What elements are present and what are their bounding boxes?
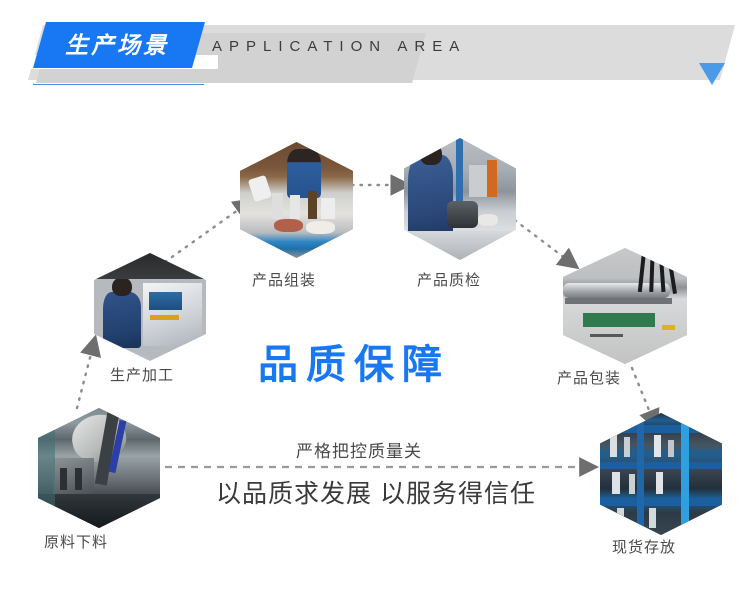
step-label-packaging: 产品包装 <box>557 367 621 388</box>
center-headline: 品质保障 <box>258 345 450 385</box>
step-hexagon-raw-material[interactable] <box>38 408 160 528</box>
step-label-inspection: 产品质检 <box>417 269 481 290</box>
connector-inspection-to-packaging <box>508 215 570 262</box>
step-hexagon-assembly[interactable] <box>240 142 353 258</box>
section-header: 生产场景 APPLICATION AREA <box>0 0 750 100</box>
assembly-photo <box>240 142 353 258</box>
connector-raw-to-machining <box>77 346 93 408</box>
step-hexagon-packaging[interactable] <box>563 248 687 364</box>
inspection-photo <box>404 138 516 260</box>
step-label-storage: 现货存放 <box>612 536 676 557</box>
header-english-label: APPLICATION AREA <box>212 38 466 55</box>
header-badge: 生产场景 <box>33 22 205 68</box>
step-hexagon-machining[interactable] <box>94 253 206 361</box>
application-area-section: 生产场景 APPLICATION AREA <box>0 0 750 600</box>
center-subline-large: 以品质求发展 以服务得信任 <box>212 474 540 510</box>
connector-machining-to-assembly <box>165 205 245 262</box>
raw-material-photo <box>38 408 160 528</box>
down-triangle-icon <box>699 63 725 85</box>
connector-packaging-to-storage <box>632 368 653 420</box>
step-hexagon-storage[interactable] <box>600 413 722 535</box>
center-subline-small: 严格把控质量关 <box>292 437 426 462</box>
step-label-machining: 生产加工 <box>110 364 174 385</box>
header-badge-label: 生产场景 <box>64 34 174 57</box>
machining-photo <box>94 253 206 361</box>
step-label-assembly: 产品组装 <box>252 269 316 290</box>
step-hexagon-inspection[interactable] <box>404 138 516 260</box>
packaging-photo <box>563 248 687 364</box>
step-label-raw-material: 原料下料 <box>44 531 108 552</box>
storage-photo <box>600 413 722 535</box>
